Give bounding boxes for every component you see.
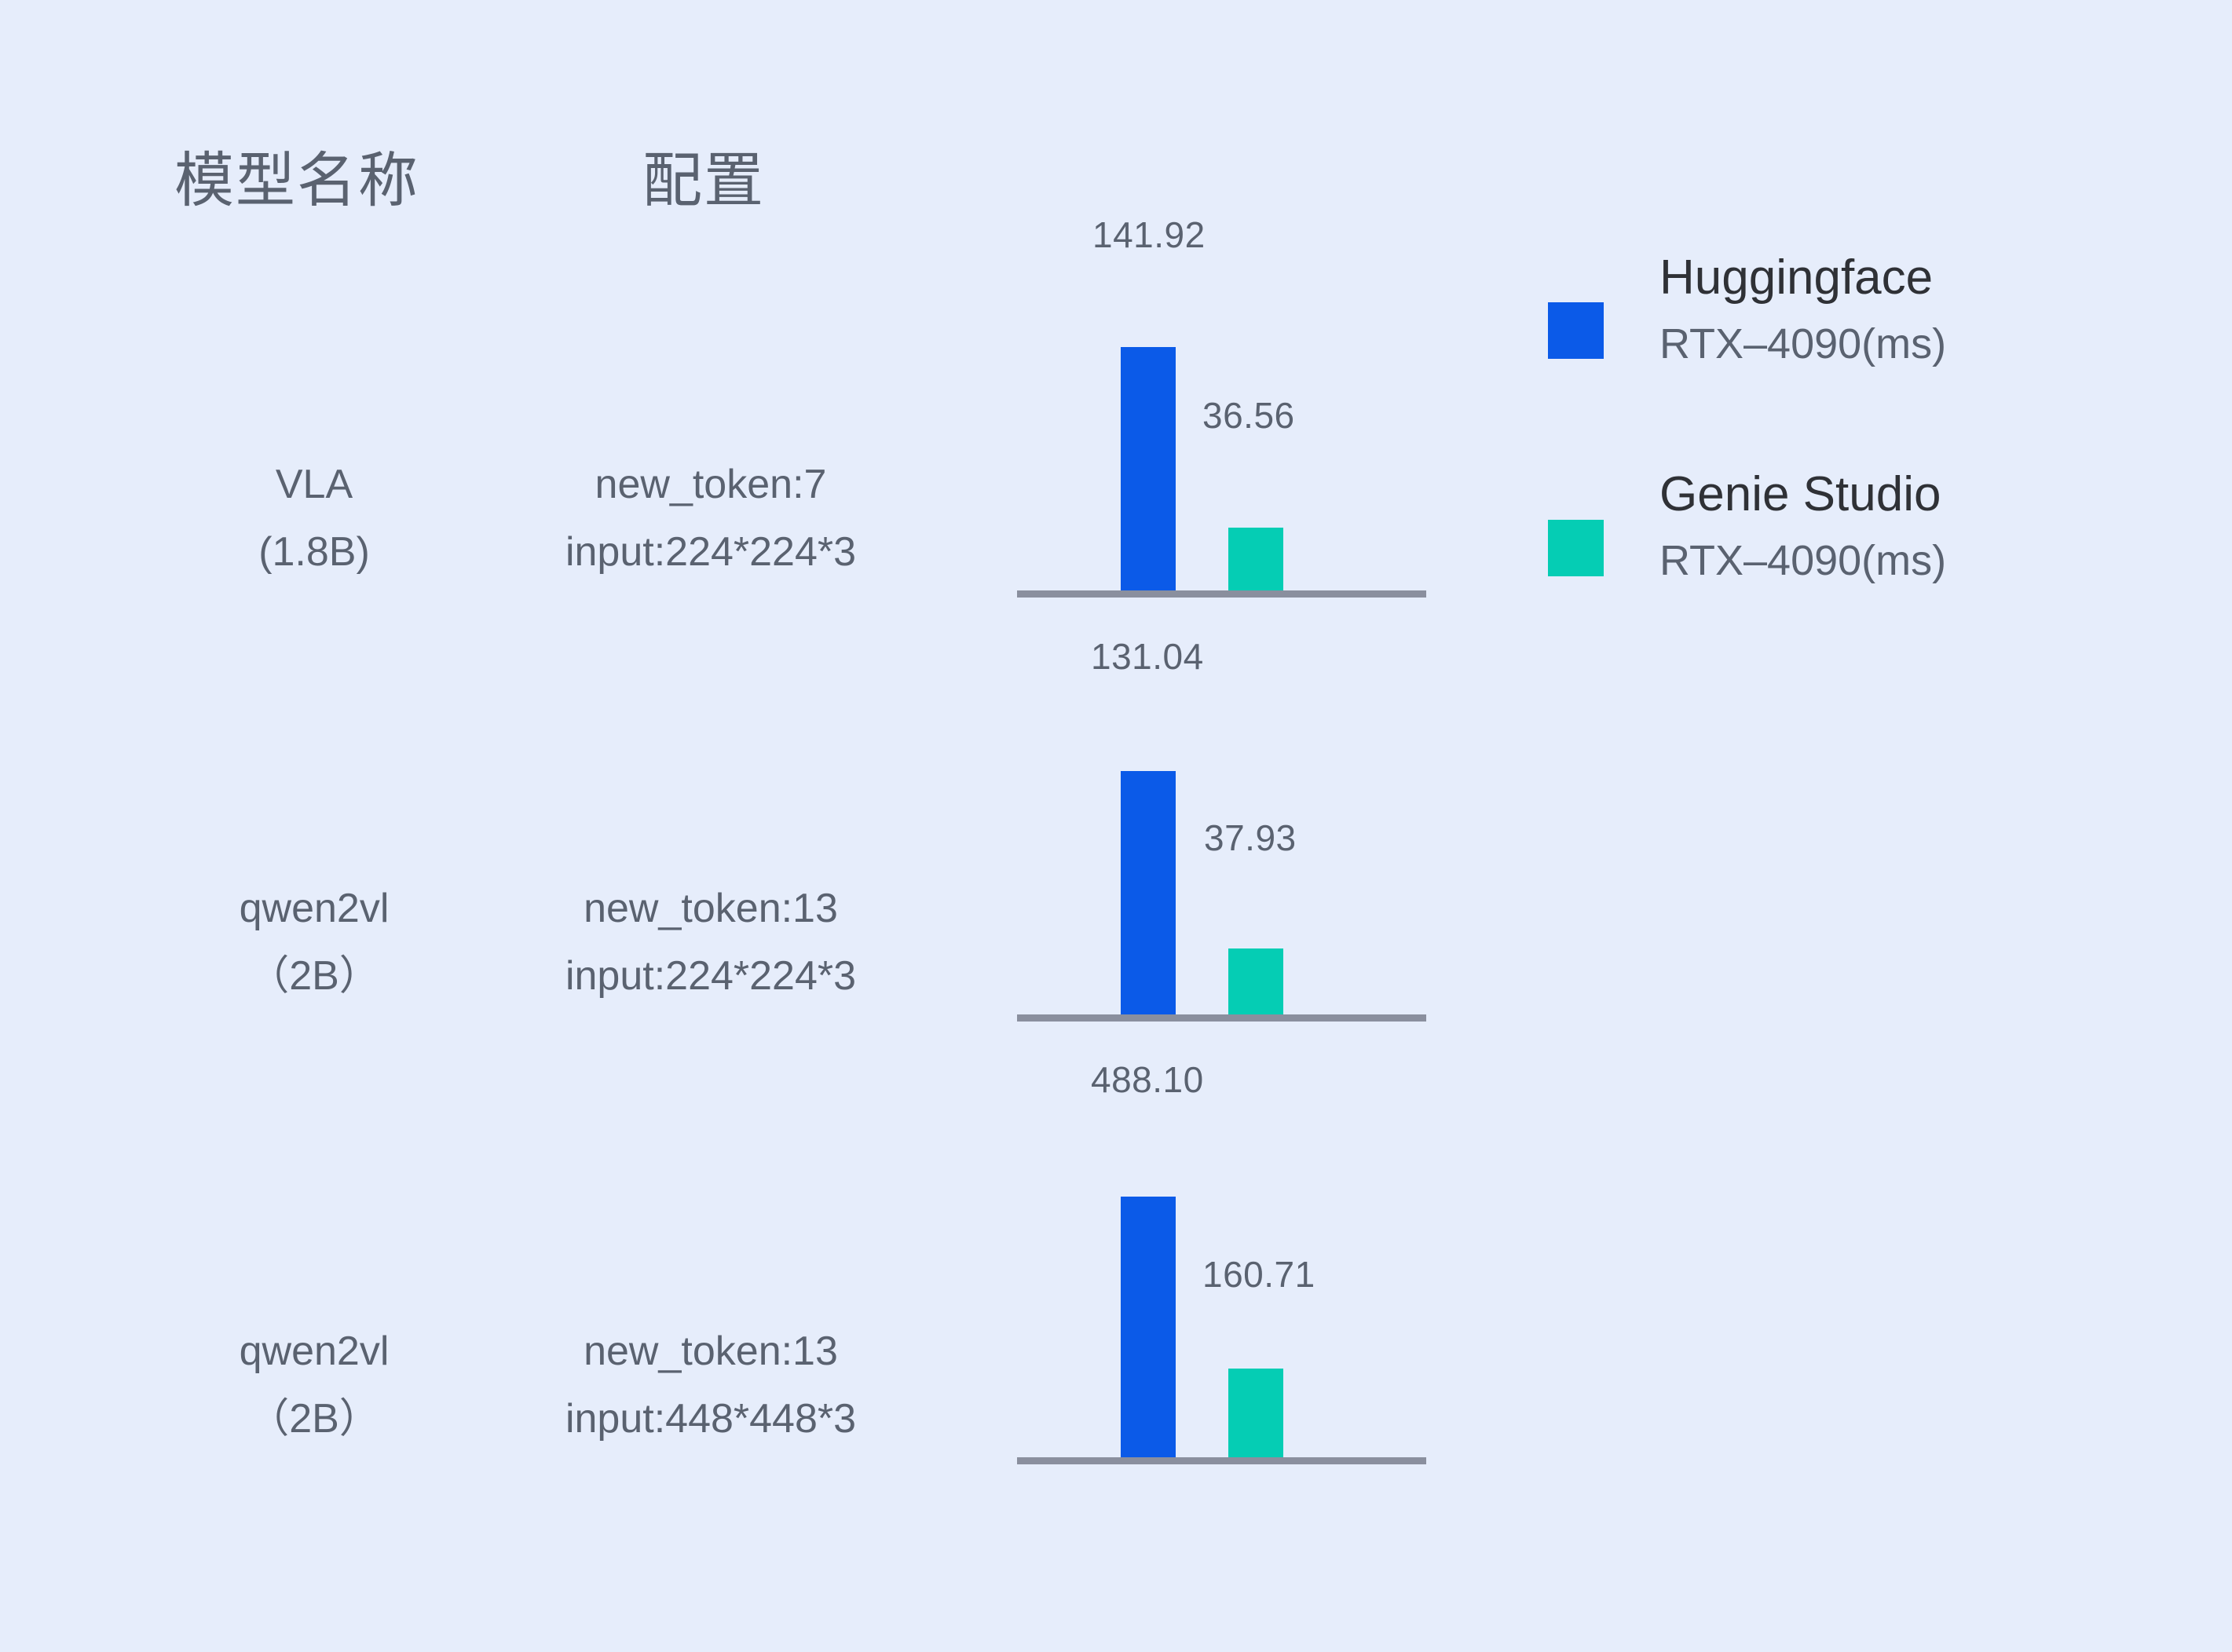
config-tokens-text: new_token:13	[487, 1318, 935, 1385]
bar-value-label-genie-studio: 160.71	[1202, 1253, 1315, 1296]
bar-value-label-genie-studio: 37.93	[1204, 817, 1297, 859]
cell-config: new_token:13 input:448*448*3	[487, 1318, 935, 1453]
blue-square-icon	[1548, 302, 1604, 359]
model-size-text: （2B）	[141, 1385, 487, 1453]
config-tokens-text: new_token:7	[487, 451, 935, 518]
bar-value-label-genie-studio: 36.56	[1202, 394, 1295, 437]
legend-item-huggingface[interactable]: Huggingface RTX–4090(ms)	[1543, 236, 2195, 495]
baseline-axis	[1017, 1014, 1426, 1022]
chart-canvas: 模型名称 配置 VLA (1.8B) new_token:7 input:224…	[0, 0, 2232, 1652]
bar-value-label-huggingface: 131.04	[1091, 635, 1204, 678]
bar-genie-studio[interactable]	[1228, 948, 1283, 1014]
model-name-text: qwen2vl	[141, 1318, 487, 1385]
cell-model-name: qwen2vl （2B）	[141, 875, 487, 1010]
config-input-text: input:448*448*3	[487, 1385, 935, 1453]
bar-value-label-huggingface: 141.92	[1092, 214, 1206, 256]
model-name-text: VLA	[141, 451, 487, 518]
legend-label-group: Genie Studio RTX–4090(ms)	[1659, 462, 2162, 594]
legend-label-group: Huggingface RTX–4090(ms)	[1659, 245, 2162, 377]
legend-subtitle: RTX–4090(ms)	[1659, 528, 2162, 594]
model-size-text: (1.8B)	[141, 518, 487, 586]
legend-title: Huggingface	[1659, 245, 2162, 311]
config-tokens-text: new_token:13	[487, 875, 935, 942]
column-header-model-name: 模型名称	[174, 132, 419, 218]
bar-huggingface[interactable]	[1121, 771, 1176, 1014]
cell-model-name: VLA (1.8B)	[141, 451, 487, 586]
bar-panel-row-2: 131.04 37.93	[1017, 582, 1426, 1022]
cell-model-name: qwen2vl （2B）	[141, 1318, 487, 1453]
cell-config: new_token:13 input:224*224*3	[487, 875, 935, 1010]
teal-square-icon	[1548, 520, 1604, 576]
legend-subtitle: RTX–4090(ms)	[1659, 311, 2162, 377]
cell-config: new_token:7 input:224*224*3	[487, 451, 935, 586]
bar-value-label-huggingface: 488.10	[1091, 1058, 1204, 1101]
config-input-text: input:224*224*3	[487, 942, 935, 1010]
bar-panel-row-1: 141.92 36.56	[1017, 158, 1426, 598]
bar-huggingface[interactable]	[1121, 347, 1176, 590]
baseline-axis	[1017, 1457, 1426, 1464]
bar-genie-studio[interactable]	[1228, 528, 1283, 590]
legend-item-genie-studio[interactable]: Genie Studio RTX–4090(ms)	[1543, 495, 2195, 754]
config-input-text: input:224*224*3	[487, 518, 935, 586]
bar-panel-row-3: 488.10 160.71	[1017, 1025, 1426, 1464]
column-header-config: 配置	[642, 132, 765, 218]
bar-huggingface[interactable]	[1121, 1197, 1176, 1464]
bar-genie-studio[interactable]	[1228, 1369, 1283, 1457]
model-size-text: （2B）	[141, 942, 487, 1010]
chart-legend: Huggingface RTX–4090(ms) Genie Studio RT…	[1543, 236, 2195, 754]
legend-title: Genie Studio	[1659, 462, 2162, 528]
model-name-text: qwen2vl	[141, 875, 487, 942]
